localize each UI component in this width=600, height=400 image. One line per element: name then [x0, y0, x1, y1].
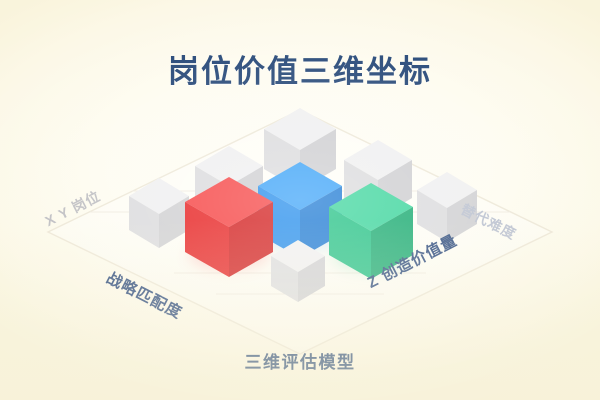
page-title: 岗位价值三维坐标	[0, 46, 600, 91]
model-caption: 三维评估模型	[0, 348, 600, 373]
illustration-canvas: 岗位价值三维坐标 三维评估模型 X Y 岗位 替代难度 战略匹配度 Z 创造价值…	[0, 0, 600, 400]
